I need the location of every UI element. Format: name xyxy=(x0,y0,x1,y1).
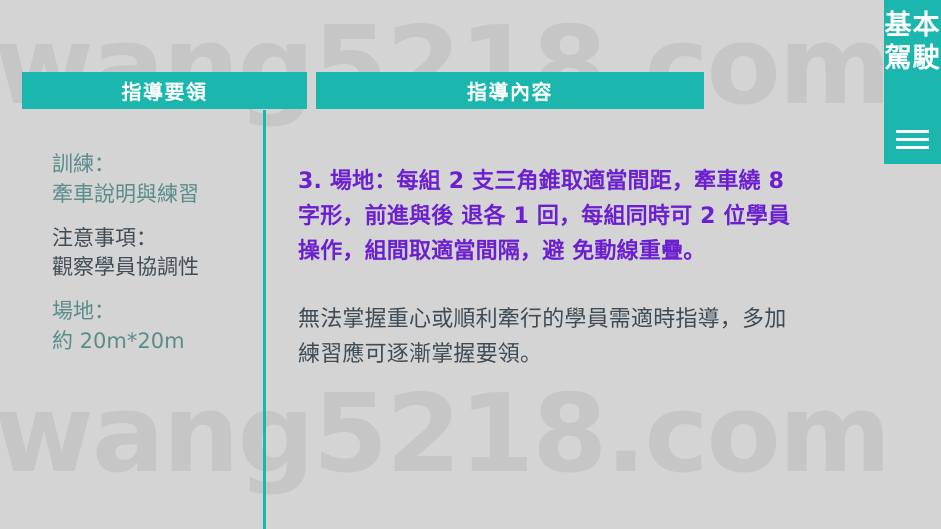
header-right: 指導內容 xyxy=(316,72,704,109)
left-block-notes-body: 觀察學員協調性 xyxy=(52,253,262,283)
instruction-main-text: 3. 場地：每組 2 支三角錐取適當間距，牽車繞 8 字形，前進與後 退各 1 … xyxy=(298,165,808,269)
left-column: 訓練： 牽車說明與練習 注意事項： 觀察學員協調性 場地： 約 20m*20m xyxy=(52,150,262,371)
watermark-top: wang5218.com xyxy=(0,4,935,129)
watermark-bottom: wang5218.com xyxy=(0,372,935,497)
left-block-venue-body: 約 20m*20m xyxy=(52,327,262,357)
header-right-label: 指導內容 xyxy=(467,76,553,105)
left-block-training: 訓練： 牽車說明與練習 xyxy=(52,150,262,210)
left-block-notes-title: 注意事項： xyxy=(52,224,262,254)
side-tab-label: 基本駕駛 xyxy=(884,10,941,76)
left-block-training-body: 牽車說明與練習 xyxy=(52,180,262,210)
left-block-venue-title: 場地： xyxy=(52,297,262,327)
left-block-training-title: 訓練： xyxy=(52,150,262,180)
left-block-notes: 注意事項： 觀察學員協調性 xyxy=(52,224,262,284)
header-left-label: 指導要領 xyxy=(122,76,208,105)
side-tab-lines xyxy=(896,130,929,154)
left-block-venue: 場地： 約 20m*20m xyxy=(52,297,262,357)
column-divider xyxy=(263,110,266,529)
side-tab: 基本駕駛 xyxy=(884,0,941,164)
right-column: 3. 場地：每組 2 支三角錐取適當間距，牽車繞 8 字形，前進與後 退各 1 … xyxy=(298,165,808,373)
instruction-sub-text: 無法掌握重心或順利牽行的學員需適時指導，多加練習應可逐漸掌握要領。 xyxy=(298,303,808,373)
header-left: 指導要領 xyxy=(22,72,307,109)
